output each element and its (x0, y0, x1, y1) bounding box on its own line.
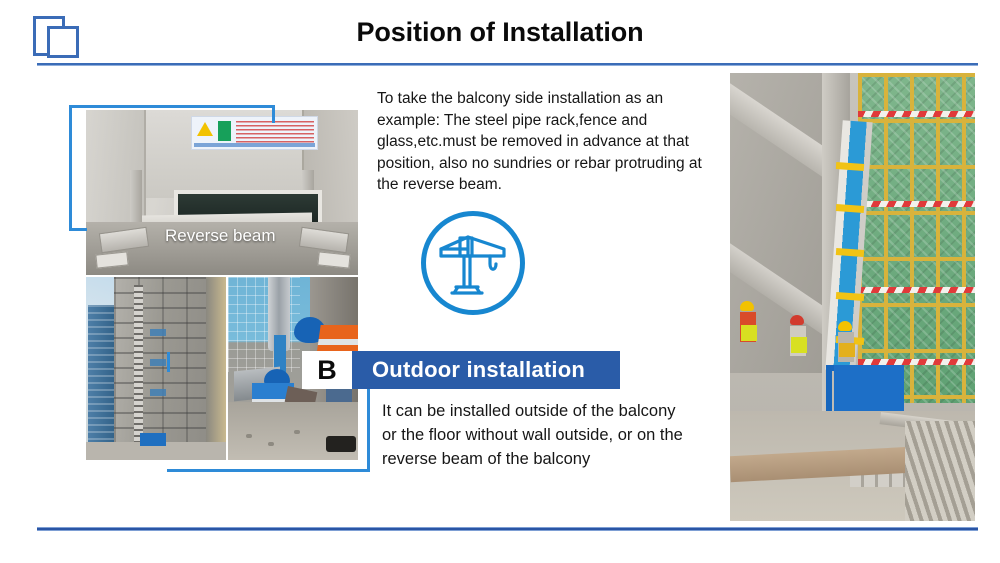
page-title: Position of Installation (0, 17, 1000, 48)
header-divider (37, 63, 978, 66)
photo-hazard-tape (858, 287, 975, 293)
photo-pipe-pile (905, 421, 975, 521)
photo-helmet-red (790, 315, 804, 325)
photo-helmet-yellow (838, 321, 852, 331)
photo-safety-vest (791, 337, 807, 353)
slide: Position of Installation Reverse beam (0, 0, 1000, 563)
section-heading: Outdoor installation (352, 351, 620, 389)
photo-safety-vest (839, 343, 855, 357)
outdoor-installation-banner: B Outdoor installation (302, 351, 620, 389)
decorative-bracket-top-left (69, 105, 272, 228)
description-paragraph: It can be installed outside of the balco… (382, 399, 692, 471)
photo-construction-site-chute (730, 73, 975, 521)
crane-glyph (438, 231, 508, 297)
section-badge-b: B (302, 351, 352, 389)
photo-scaffolding (858, 73, 975, 403)
photo-caption-reverse-beam: Reverse beam (165, 226, 276, 246)
decorative-bracket-bottom-left-tick-v (167, 352, 170, 372)
photo-window (150, 389, 166, 396)
photo-window (150, 329, 166, 336)
photo-window (150, 359, 166, 366)
footer-divider (37, 527, 978, 531)
photo-hazard-tape (858, 111, 975, 117)
photo-scaffold-poles-horizontal (858, 73, 975, 403)
photo-safety-vest (741, 325, 757, 341)
tower-crane-icon (421, 211, 525, 315)
photo-blue-hopper (140, 433, 166, 446)
intro-paragraph: To take the balcony side installation as… (377, 88, 713, 196)
photo-helmet-yellow (740, 301, 754, 311)
photo-hazard-tape (858, 201, 975, 207)
